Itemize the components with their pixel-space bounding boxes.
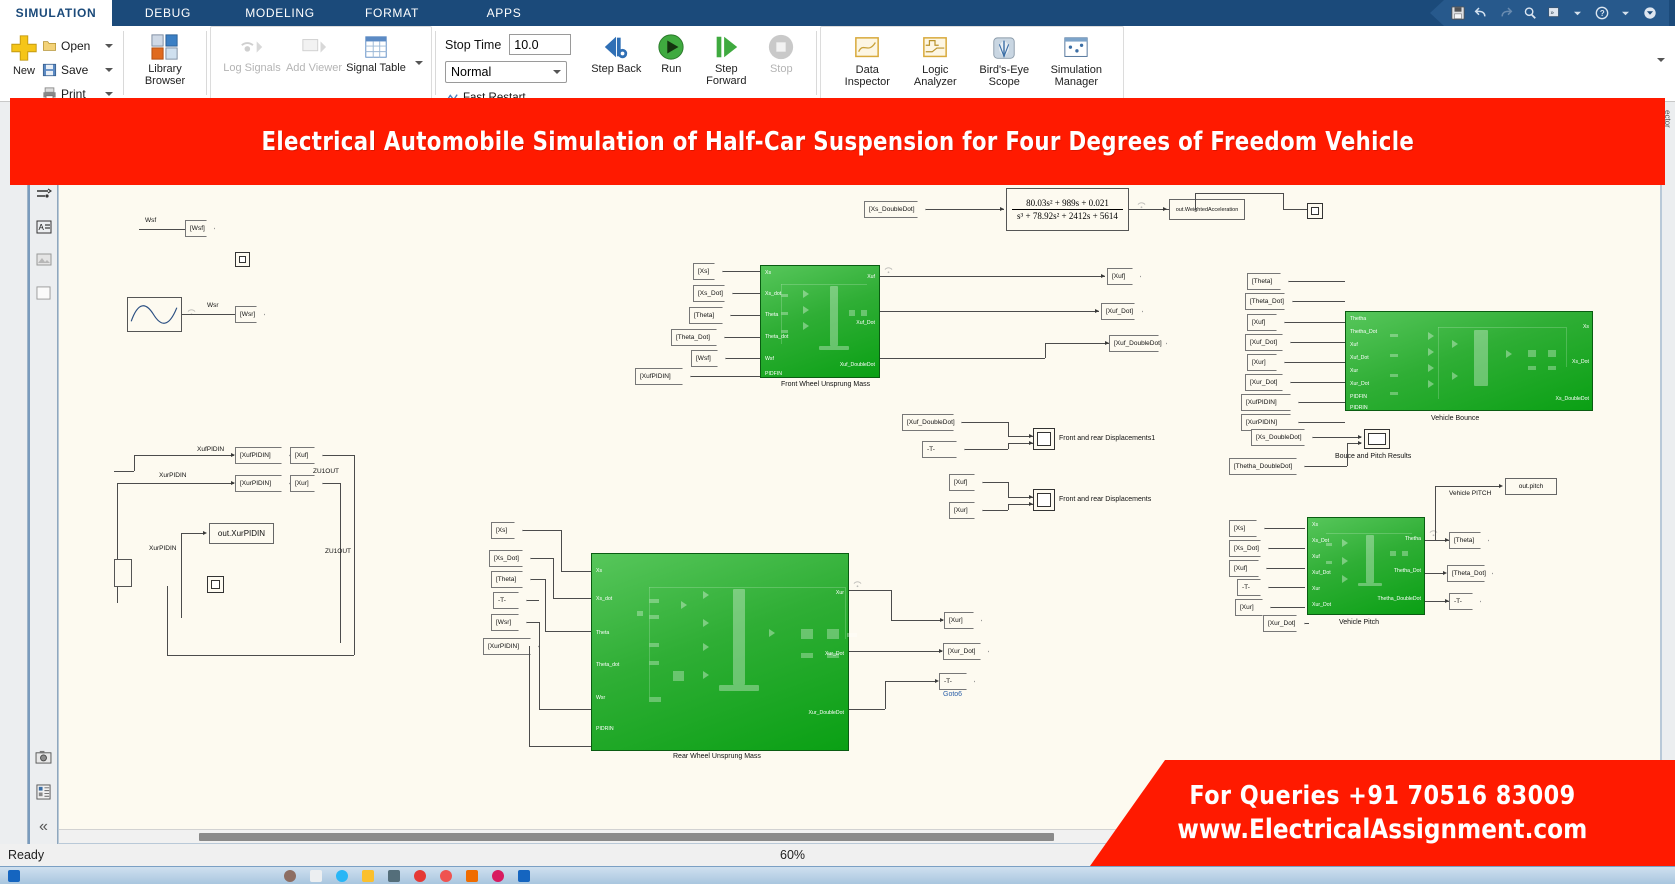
input-port-label: Xur — [1350, 368, 1358, 374]
add-viewer-icon — [300, 34, 328, 60]
input-port-label: Theta_dot — [596, 662, 619, 668]
stop-button[interactable]: Stop — [755, 30, 807, 75]
wire — [167, 586, 168, 655]
signal-table-icon — [363, 34, 389, 60]
from-block-theta-fw[interactable]: [Theta] — [689, 307, 731, 324]
model-editor: A « [Xs_DoubleDot] 80.03s² + 989 — [0, 102, 1675, 844]
scrollbar-thumb[interactable] — [199, 833, 1054, 841]
from-block-xur-dot-vp[interactable]: [Xur_Dot] — [1263, 615, 1305, 632]
step-back-icon — [601, 33, 631, 61]
wire-arrow — [231, 481, 235, 485]
wire — [545, 579, 546, 631]
taskbar-icon-matlab[interactable] — [518, 870, 530, 882]
scope-front-rear-displacements1[interactable] — [1033, 428, 1055, 450]
left-pane — [0, 102, 28, 844]
tab-debug[interactable]: DEBUG — [112, 0, 224, 26]
signal-table-button[interactable]: Signal Table — [345, 31, 407, 74]
wire — [965, 449, 1008, 450]
wire-label-xurpidin: XurPIDIN — [159, 472, 186, 479]
wire — [1283, 193, 1284, 209]
wire — [1008, 482, 1009, 497]
from-block-theta-dot-vb[interactable]: [Theta_Dot] — [1245, 293, 1293, 310]
add-viewer-label: Add Viewer — [286, 62, 342, 74]
wire-arrow — [939, 649, 943, 653]
signal-logging-icon — [884, 261, 893, 268]
library-browser-label: Library Browser — [133, 63, 197, 87]
from-block-xs-dot-fw[interactable]: [Xs_Dot] — [693, 285, 733, 302]
library-browser-button[interactable]: Library Browser — [133, 30, 197, 87]
birds-eye-scope-button[interactable]: Bird's-Eye Scope — [969, 33, 1039, 88]
wire-arrow — [1163, 207, 1167, 211]
wire — [1291, 382, 1345, 383]
from-block-xs-dot-rw[interactable]: [Xs_Dot] — [489, 550, 531, 567]
stop-label: Stop — [770, 63, 793, 75]
library-browser-icon — [150, 33, 180, 61]
input-port-label: Theta — [596, 630, 609, 636]
wire — [1269, 587, 1305, 588]
watermark-website: www.ElectricalAssignment.com — [1178, 814, 1588, 845]
collapse-icon[interactable]: « — [34, 817, 53, 836]
input-port-label: Xur_Dot — [1312, 602, 1331, 608]
new-label: New — [13, 65, 35, 77]
simulation-manager-button[interactable]: Simulation Manager — [1039, 33, 1113, 88]
scope-front-rear-displacements[interactable] — [1033, 489, 1055, 511]
data-inspector-icon — [853, 36, 881, 62]
from-block-xuf-pid[interactable]: [Xuf] — [290, 447, 323, 464]
wire — [181, 533, 182, 618]
ribbon-overflow-icon[interactable] — [1657, 58, 1665, 62]
scope-left-small[interactable] — [235, 252, 250, 267]
os-taskbar — [0, 866, 1675, 884]
scope-bounce-pitch-results[interactable] — [1364, 429, 1390, 449]
add-viewer-button[interactable]: Add Viewer — [283, 31, 345, 74]
step-back-label: Step Back — [591, 63, 641, 75]
from-block-xuf-dot-vb[interactable]: [Xuf_Dot] — [1245, 334, 1291, 351]
signal-logging-icon — [1137, 196, 1146, 203]
wire — [1285, 322, 1345, 323]
box-icon[interactable] — [34, 283, 53, 302]
wire — [849, 651, 942, 652]
input-port-label: Xur_Dot — [1350, 381, 1369, 387]
taskbar-icon-window[interactable] — [310, 870, 322, 882]
logic-analyzer-button[interactable]: Logic Analyzer — [901, 33, 969, 88]
wire — [531, 579, 545, 580]
goto-block-theta-dot-vp[interactable]: [Theta_Dot] — [1447, 565, 1493, 582]
watermark-banner: For Queries +91 70516 83009 www.Electric… — [1090, 760, 1675, 866]
data-inspector-button[interactable]: Data Inspector — [833, 33, 901, 88]
goto-block-xuf-doubledot[interactable]: [Xuf_DoubleDot] — [1109, 335, 1167, 352]
ribbon-group-review: Data Inspector Logic Analyzer Bird's-Eye… — [820, 26, 1124, 101]
out-weighted-acceleration-block[interactable]: out.WeightedAcceleration — [1169, 199, 1245, 220]
wire-label-wsr: Wsr — [207, 302, 219, 309]
wire — [553, 598, 591, 599]
goto-block-xuf-dot[interactable]: [Xuf_Dot] — [1101, 303, 1143, 320]
signal-table-label: Signal Table — [346, 62, 406, 74]
wire — [725, 337, 760, 338]
run-icon — [656, 33, 686, 61]
step-forward-button[interactable]: Step Forward — [697, 30, 755, 87]
taskbar-icon-person[interactable] — [284, 870, 296, 882]
wire-label-xurpidin-2: XurPIDIN — [149, 545, 176, 552]
save-icon[interactable] — [1450, 6, 1465, 21]
tab-modeling[interactable]: MODELING — [224, 0, 336, 26]
chevron-down-icon[interactable] — [105, 92, 113, 96]
wire — [880, 311, 1099, 312]
goto-block-minus-t-vp[interactable]: -T- — [1449, 593, 1481, 610]
input-port-label: Xs — [596, 568, 602, 574]
wire — [1425, 573, 1445, 574]
log-signals-label: Log Signals — [223, 62, 281, 74]
ribbon-divider — [206, 31, 207, 95]
out-xurpidin-block[interactable]: out.XurPIDIN — [209, 523, 274, 544]
from-block-xs-dot-vp[interactable]: [Xs_Dot] — [1229, 540, 1269, 557]
stop-time-label: Stop Time — [445, 38, 501, 52]
from-block-xs-doubledot[interactable]: [Xs_DoubleDot] — [864, 201, 926, 218]
taskbar-icon-app[interactable] — [388, 870, 400, 882]
wire — [117, 483, 234, 484]
from-block-xur-scope[interactable]: [Xur] — [949, 502, 983, 519]
help-icon[interactable]: ? — [1594, 6, 1609, 21]
tab-simulation[interactable]: SIMULATION — [0, 0, 112, 26]
from-block-xufpidin-vb[interactable]: [XufPIDIN] — [1241, 394, 1299, 411]
ribbon-group-simulate: Stop Time Normal Fast Restart Step Back … — [439, 26, 813, 101]
new-button[interactable]: New — [6, 30, 42, 77]
simulation-mode-select[interactable]: Normal — [445, 61, 567, 83]
goto-block-wsr[interactable]: [Wsr] — [235, 306, 265, 323]
input-port-label: Xuf — [1312, 554, 1320, 560]
wire-arrow — [1101, 274, 1105, 278]
log-signals-icon — [238, 34, 266, 60]
ribbon-divider — [435, 31, 436, 95]
toolstrip-bottom: « — [34, 747, 53, 836]
wire — [1045, 343, 1046, 358]
wire-arrow — [1000, 207, 1004, 211]
wire — [323, 455, 354, 456]
output-port-label: Xuf — [867, 274, 875, 280]
simulation-manager-icon — [1062, 36, 1090, 62]
wire-arrow — [940, 618, 944, 622]
run-button[interactable]: Run — [645, 30, 697, 75]
scope-top[interactable] — [1307, 203, 1323, 219]
from-block-wsf-fw[interactable]: [Wsf] — [691, 350, 726, 367]
wire — [545, 631, 591, 632]
goto-block-xufpidin[interactable]: [XufPIDIN] — [235, 447, 290, 464]
wire — [1299, 402, 1345, 403]
shortcuts-icon[interactable]: » — [1546, 6, 1561, 21]
stop-icon — [766, 33, 796, 61]
from-block-xs-fw[interactable]: [Xs] — [693, 263, 723, 280]
goto-block-xurpidin[interactable]: [XurPIDIN] — [235, 475, 290, 492]
wire — [1283, 209, 1307, 210]
signal-source-block[interactable] — [127, 297, 182, 332]
wire-arrow — [1105, 341, 1109, 345]
chevron-down-icon[interactable] — [105, 68, 113, 72]
vehicle-bounce-block[interactable]: Thetha Thetha_Dot Xuf Xuf_Dot Xur Xur_Do… — [1345, 311, 1593, 411]
taskbar-icon-browser[interactable] — [336, 870, 348, 882]
wire — [962, 422, 1008, 423]
from-block-xur-vp[interactable]: [Xur] — [1235, 599, 1271, 616]
wire — [523, 530, 561, 531]
redo-icon — [1498, 6, 1513, 21]
wire — [1285, 362, 1345, 363]
annotation-icon[interactable]: A — [34, 217, 53, 236]
goto-block-minus-t-rw[interactable]: -T- — [939, 673, 975, 690]
wire — [1271, 607, 1305, 608]
goto-block-xur-dot[interactable]: [Xur_Dot] — [943, 643, 989, 660]
wire — [885, 681, 886, 709]
vehicle-bounce-block-label: Vehicle Bounce — [1431, 415, 1479, 422]
wire-arrow — [935, 679, 939, 683]
wire-label-wsf: Wsf — [145, 217, 156, 224]
input-port-label: Thetha_Dot — [1350, 329, 1377, 335]
from-block-xurpidin-rw[interactable]: [XurPIDIN] — [483, 638, 539, 655]
log-signals-button[interactable]: Log Signals — [221, 31, 283, 74]
taskbar-icon-orange[interactable] — [466, 870, 478, 882]
wire-label-vehicle-pitch: Vehicle PITCH — [1449, 490, 1491, 497]
scope-label-front-rear-displacements: Front and rear Displacements — [1059, 496, 1151, 503]
wire — [167, 655, 354, 656]
pid-input-block[interactable] — [114, 559, 132, 587]
undo-icon[interactable] — [1474, 6, 1489, 21]
from-block-wsr-rw[interactable]: [Wsr] — [491, 614, 527, 631]
wire — [1291, 342, 1345, 343]
model-canvas[interactable]: [Xs_DoubleDot] 80.03s² + 989s + 0.021 s³… — [58, 102, 1661, 844]
wire — [885, 681, 937, 682]
taskbar-icon-folder[interactable] — [362, 870, 374, 882]
taskbar-icon-red2[interactable] — [440, 870, 452, 882]
signal-logging-icon — [853, 575, 862, 582]
wire — [181, 533, 205, 534]
input-port-label: Thetha — [1350, 316, 1366, 322]
input-port-label: PIDRIN — [1350, 405, 1368, 411]
wire — [926, 209, 1004, 210]
wire — [1045, 343, 1109, 344]
wire-label-zu1out: ZU1OUT — [313, 468, 339, 475]
from-block-xur-pid[interactable]: [Xur] — [290, 475, 323, 492]
rear-wheel-unsprung-mass-block[interactable]: Xs Xs_dot Theta Theta_dot Wsr PIDRIN Xur… — [591, 553, 849, 751]
open-button[interactable]: Open — [42, 35, 113, 56]
wire — [1313, 437, 1361, 438]
wire — [733, 293, 760, 294]
title-banner: Electrical Automobile Simulation of Half… — [10, 98, 1665, 185]
wire-arrow — [1443, 571, 1447, 575]
output-port-label: Xs_Dot — [1572, 359, 1589, 365]
front-wheel-block-label: Front Wheel Unsprung Mass — [781, 381, 870, 388]
ribbon-body: New Open Save Print — [0, 26, 1675, 102]
wire-arrow — [1095, 309, 1099, 313]
signal-logging-icon — [187, 303, 196, 310]
from-block-minus-t-scope1[interactable]: -T- — [922, 441, 965, 458]
wire — [529, 646, 530, 746]
logic-analyzer-icon — [921, 36, 949, 62]
scope-pid-left[interactable] — [207, 576, 224, 593]
birds-eye-scope-label: Bird's-Eye Scope — [969, 64, 1039, 88]
from-block-theta-vb[interactable]: [Theta] — [1247, 273, 1289, 290]
block-preview-glyphs — [775, 282, 869, 364]
wire — [354, 455, 355, 655]
chevron-down-icon[interactable] — [105, 44, 113, 48]
from-block-theta-dot-fw[interactable]: [Theta_Dot] — [671, 329, 725, 346]
from-block-xur-vb[interactable]: [Xur] — [1247, 354, 1285, 371]
wire-arrow — [203, 531, 207, 535]
start-icon[interactable] — [8, 870, 20, 882]
chevron-down-icon[interactable] — [1570, 6, 1585, 21]
vehicle-pitch-block[interactable]: Xs Xs_Dot Xuf Xuf_Dot Xur Xur_Dot Thetha… — [1307, 517, 1425, 615]
banner-title: Electrical Automobile Simulation of Half… — [261, 127, 1414, 157]
out-pitch-block[interactable]: out.pitch — [1505, 478, 1557, 495]
wire — [1293, 301, 1345, 302]
search-icon[interactable] — [1522, 6, 1537, 21]
simulation-mode-value: Normal — [451, 65, 491, 79]
wire — [849, 590, 891, 591]
goto-block-wsf[interactable]: [Wsf] — [185, 220, 215, 237]
block-preview-glyphs — [623, 581, 828, 726]
wire — [539, 709, 591, 710]
from-block-xuf-doubledot-scope[interactable]: [Xuf_DoubleDot] — [902, 414, 962, 431]
goto-note-label: Goto6 — [943, 691, 962, 698]
wire — [134, 455, 234, 456]
wire — [1008, 422, 1009, 436]
wire — [139, 229, 185, 230]
run-label: Run — [661, 63, 681, 75]
ribbon-tabbar: SIMULATION DEBUG MODELING FORMAT APPS » … — [0, 0, 1675, 26]
transfer-function-block[interactable]: 80.03s² + 989s + 0.021 s³ + 78.92s² + 24… — [1006, 188, 1129, 231]
wire — [1195, 193, 1283, 194]
ribbon-divider — [816, 31, 817, 95]
camera-icon[interactable] — [34, 747, 53, 766]
quick-access-toolbar: » ? — [1430, 0, 1669, 26]
from-block-thetha-doubledot-bp[interactable]: [Thetha_DoubleDot] — [1229, 458, 1305, 475]
from-block-xuf-scope[interactable]: [Xuf] — [949, 474, 983, 491]
input-port-label: Wsf — [765, 356, 774, 362]
vehicle-pitch-block-label: Vehicle Pitch — [1339, 619, 1379, 626]
simulation-manager-label: Simulation Manager — [1039, 64, 1113, 88]
svg-text:?: ? — [1599, 9, 1604, 18]
wire — [561, 530, 562, 571]
from-block-xuf-vp[interactable]: [Xuf] — [1229, 560, 1267, 577]
birds-eye-scope-icon — [990, 36, 1018, 62]
wire-label-zu1out-2: ZU1OUT — [325, 548, 351, 555]
data-inspector-label: Data Inspector — [833, 64, 901, 88]
input-port-label: Wsr — [596, 695, 605, 701]
from-block-theta-rw[interactable]: [Theta] — [491, 571, 531, 588]
input-port-label: Xur — [1312, 586, 1320, 592]
wire-arrow — [231, 453, 235, 457]
save-button[interactable]: Save — [42, 59, 113, 80]
prepare-group-expand-icon[interactable] — [415, 61, 423, 65]
taskbar-icon-red1[interactable] — [414, 870, 426, 882]
ribbon-group-prepare: Log Signals Add Viewer Signal Table — [210, 26, 432, 101]
image-icon[interactable] — [34, 250, 53, 269]
goto-block-xuf[interactable]: [Xuf] — [1107, 268, 1141, 285]
block-diagram: [Xs_DoubleDot] 80.03s² + 989s + 0.021 s³… — [59, 103, 1660, 843]
from-block-xs-doubledot-bp[interactable]: [Xs_DoubleDot] — [1251, 429, 1313, 446]
wire — [1435, 486, 1501, 487]
tab-format[interactable]: FORMAT — [336, 0, 448, 26]
input-port-label: Xuf_Dot — [1350, 355, 1369, 361]
model-report-icon[interactable] — [34, 782, 53, 801]
step-back-button[interactable]: Step Back — [587, 30, 645, 75]
scope-label-front-rear-displacements1: Front and rear Displacements1 — [1059, 435, 1155, 442]
wire — [340, 483, 341, 643]
from-block-xs-rw[interactable]: [Xs] — [491, 522, 523, 539]
wire — [983, 482, 1008, 483]
wire — [723, 271, 760, 272]
wire — [531, 558, 553, 559]
save-label: Save — [61, 63, 101, 77]
wire — [323, 483, 340, 484]
watermark-phone: For Queries +91 70516 83009 — [1189, 781, 1575, 811]
collapse-ribbon-icon[interactable] — [1642, 6, 1657, 21]
wire — [1265, 528, 1305, 529]
wire-arrow — [1445, 599, 1449, 603]
goto-block-xur[interactable]: [Xur] — [944, 612, 982, 629]
wire — [529, 746, 591, 747]
from-block-xur-dot-vb[interactable]: [Xur_Dot] — [1245, 374, 1291, 391]
chevron-down-icon — [553, 70, 561, 74]
svg-text:A: A — [38, 223, 44, 232]
wire — [726, 358, 760, 359]
scope-label-bounce-pitch-results: Bouce and Pitch Results — [1335, 453, 1411, 460]
transfer-function-expression: 80.03s² + 989s + 0.021 s³ + 78.92s² + 24… — [1012, 197, 1123, 222]
front-wheel-unsprung-mass-block[interactable]: Xs Xs_dot Theta Theta_dot Wsf PIDFIN Xuf… — [760, 265, 880, 378]
wire — [1289, 281, 1345, 282]
input-port-label: PIDRIN — [596, 726, 614, 732]
ribbon-group-file: New Open Save Print — [0, 26, 120, 101]
wire — [527, 600, 539, 601]
new-icon — [9, 33, 39, 63]
from-block-xurpidin-vb[interactable]: [XurPIDIN] — [1241, 414, 1299, 431]
wire — [1267, 568, 1305, 569]
wire — [1299, 422, 1345, 423]
wire — [731, 315, 760, 316]
taskbar-icon-pink[interactable] — [492, 870, 504, 882]
wire — [849, 709, 885, 710]
wire — [1305, 623, 1309, 624]
wire — [553, 558, 554, 598]
canvas-right-edge: ector — [1661, 102, 1675, 844]
transfer-function-numerator: 80.03s² + 989s + 0.021 — [1012, 197, 1123, 210]
signal-properties-icon[interactable] — [34, 184, 53, 203]
stop-time-input[interactable] — [509, 34, 571, 55]
chevron-down-icon-2[interactable] — [1618, 6, 1633, 21]
wire — [134, 455, 135, 471]
wire — [891, 620, 943, 621]
stop-time-row: Stop Time — [445, 34, 571, 55]
wire — [539, 622, 540, 709]
from-block-minus-t-rw[interactable]: -T- — [493, 592, 527, 609]
wire — [891, 590, 892, 620]
logic-analyzer-label: Logic Analyzer — [901, 64, 969, 88]
wire — [1305, 466, 1347, 467]
tab-apps[interactable]: APPS — [448, 0, 560, 26]
from-block-xufpidin-fw[interactable]: [XufPIDIN] — [635, 368, 691, 385]
wire — [182, 314, 235, 315]
input-port-label: PIDFIN — [765, 371, 782, 377]
from-block-minus-t-vp[interactable]: -T- — [1237, 579, 1269, 596]
from-block-xs-vp[interactable]: [Xs] — [1229, 520, 1265, 537]
open-label: Open — [61, 39, 101, 53]
goto-block-theta-vp[interactable]: [Theta] — [1449, 532, 1489, 549]
status-zoom-level[interactable]: 60% — [780, 848, 805, 862]
from-block-xuf-vb[interactable]: [Xuf] — [1247, 314, 1285, 331]
wire-arrow — [1445, 538, 1449, 542]
wire — [880, 358, 1045, 359]
output-port-label: Xur — [836, 590, 844, 596]
status-ready-label: Ready — [8, 848, 44, 862]
wire — [561, 571, 591, 572]
wire — [1269, 548, 1305, 549]
